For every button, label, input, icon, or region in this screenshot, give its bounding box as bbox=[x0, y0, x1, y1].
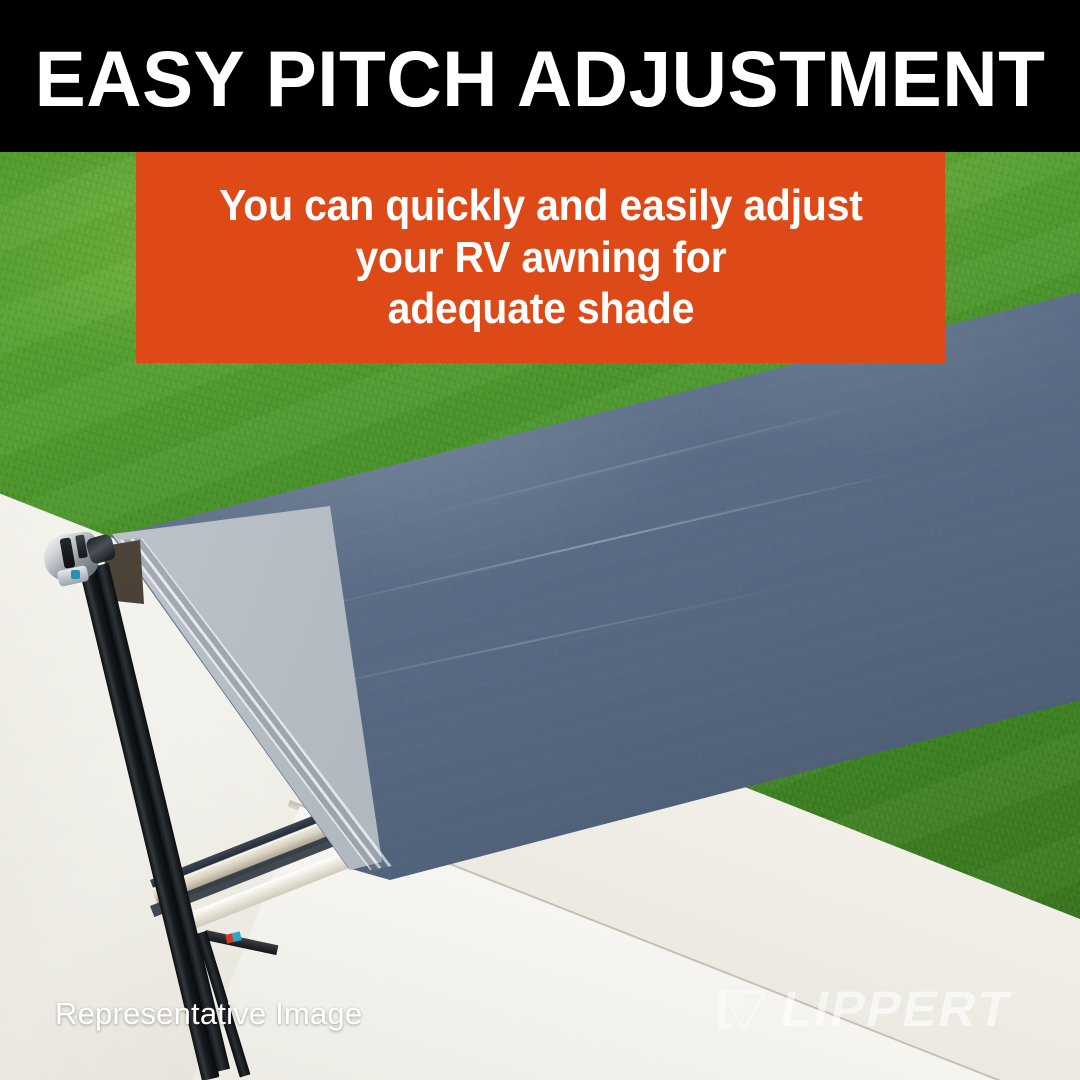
lippert-wordmark: LIPPERT bbox=[777, 984, 1016, 1034]
lippert-logo: LIPPERT bbox=[718, 978, 1048, 1040]
callout-text: You can quickly and easily adjustyour RV… bbox=[204, 180, 877, 336]
representative-image-disclaimer: Representative Image bbox=[55, 996, 362, 1032]
title-bar: EASY PITCH ADJUSTMENT bbox=[0, 0, 1080, 152]
lippert-triangle-mark-icon bbox=[718, 986, 770, 1032]
awning-pitch-bracket bbox=[44, 528, 116, 590]
callout-box: You can quickly and easily adjustyour RV… bbox=[136, 152, 945, 363]
page-title: EASY PITCH ADJUSTMENT bbox=[35, 35, 1046, 118]
promo-graphic: You can quickly and easily adjustyour RV… bbox=[0, 0, 1080, 1080]
